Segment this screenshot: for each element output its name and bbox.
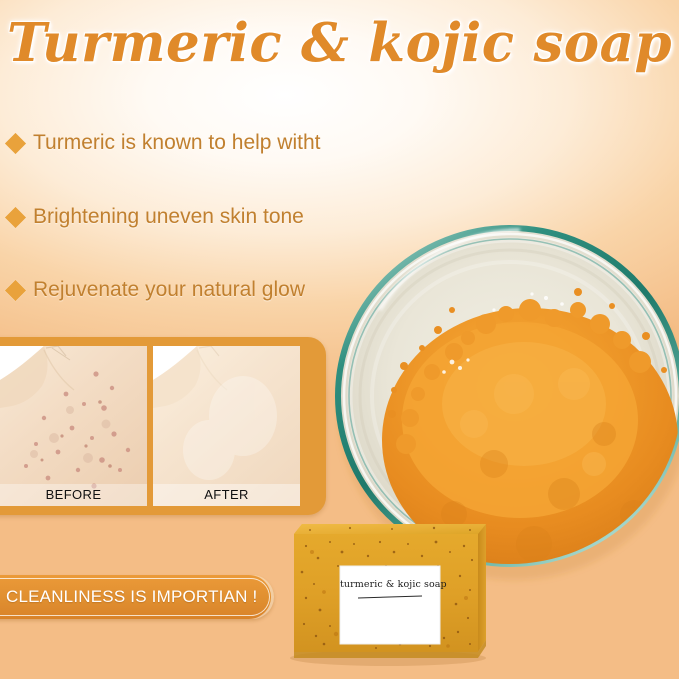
before-after-panels: BEFORE [0, 346, 300, 506]
before-panel: BEFORE [0, 346, 147, 506]
feature-bullet-2: Brightening uneven skin tone [8, 205, 304, 229]
feature-bullet-3-label: Rejuvenate your natural glow [33, 278, 305, 302]
feature-bullet-1-label: Turmeric is known to help witht [33, 131, 321, 155]
cleanliness-banner-text: CLEANLINESS IS IMPORTIAN ! [0, 587, 257, 607]
before-label: BEFORE [0, 487, 147, 502]
diamond-icon [5, 279, 26, 300]
after-panel: AFTER [153, 346, 300, 506]
feature-bullet-3: Rejuvenate your natural glow [8, 278, 305, 302]
page-title: Turmeric & kojic soap [0, 12, 679, 74]
soap-bar-image: turmeric & kojic soap [280, 506, 495, 666]
feature-bullet-2-label: Brightening uneven skin tone [33, 205, 304, 229]
product-poster: Turmeric & kojic soap Turmeric is known … [0, 0, 679, 679]
diamond-icon [5, 132, 26, 153]
after-label: AFTER [153, 487, 300, 502]
soap-label-text: turmeric & kojic soap [340, 579, 447, 590]
diamond-icon [5, 206, 26, 227]
feature-bullet-1: Turmeric is known to help witht [8, 131, 321, 155]
cleanliness-banner: CLEANLINESS IS IMPORTIAN ! [0, 575, 274, 619]
before-after-frame: BEFORE [0, 337, 326, 515]
